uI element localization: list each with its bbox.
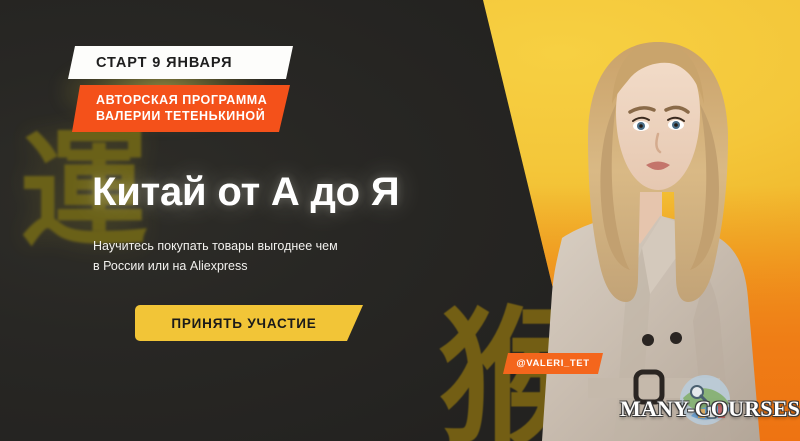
author-program-line2: ВАЛЕРИИ ТЕТЕНЬКИНОЙ bbox=[96, 109, 290, 125]
start-date-badge: СТАРТ 9 ЯНВАРЯ bbox=[68, 46, 293, 79]
author-program-line1: АВТОРСКАЯ ПРОГРАММА bbox=[96, 93, 290, 109]
join-button-label: ПРИНЯТЬ УЧАСТИЕ bbox=[171, 316, 316, 331]
site-watermark-label: MANY-COURSES.RU bbox=[620, 396, 800, 422]
subtitle: Научитесь покупать товары выгоднее чем в… bbox=[93, 236, 423, 276]
instagram-handle-tag[interactable]: @VALERI_TET bbox=[503, 353, 603, 374]
page-title: Китай от А до Я bbox=[92, 170, 399, 215]
promo-banner: 運 猴 bbox=[0, 0, 800, 441]
start-date-label: СТАРТ 9 ЯНВАРЯ bbox=[96, 55, 232, 71]
subtitle-line-1: Научитесь покупать товары выгоднее чем bbox=[93, 236, 423, 256]
subtitle-line-2: в России или на Aliexpress bbox=[93, 256, 423, 276]
woman-portrait-image bbox=[470, 0, 800, 441]
join-button[interactable]: ПРИНЯТЬ УЧАСТИЕ bbox=[135, 305, 363, 341]
instagram-handle-label: @VALERI_TET bbox=[516, 358, 589, 369]
author-program-badge: АВТОРСКАЯ ПРОГРАММА ВАЛЕРИИ ТЕТЕНЬКИНОЙ bbox=[72, 85, 290, 132]
site-watermark: MANY-COURSES.RU bbox=[620, 396, 800, 422]
